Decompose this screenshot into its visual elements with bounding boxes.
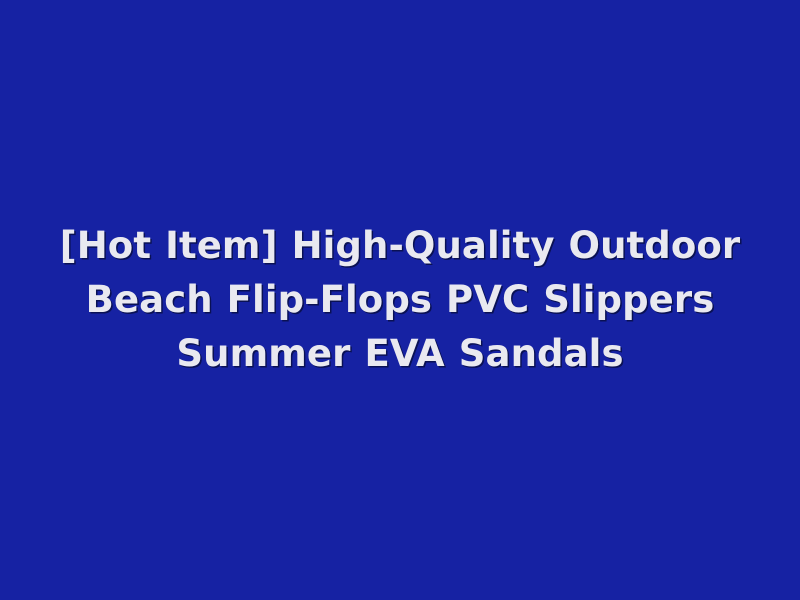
title-block: [Hot Item] High-Quality Outdoor Beach Fl… — [47, 219, 753, 381]
product-title-card: [Hot Item] High-Quality Outdoor Beach Fl… — [0, 0, 800, 600]
product-title: [Hot Item] High-Quality Outdoor Beach Fl… — [47, 219, 753, 381]
